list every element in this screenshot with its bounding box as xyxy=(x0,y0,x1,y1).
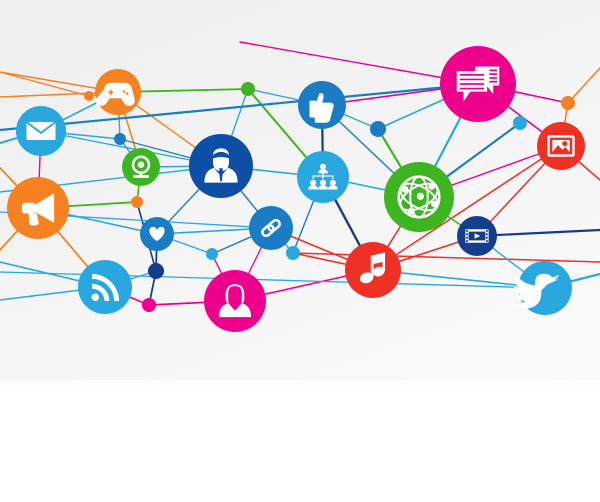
graph-edge xyxy=(0,72,89,96)
megaphone-node: Marketing xyxy=(7,177,69,239)
network-graph-svg: Gaming Email Video Chat Marketing Favori… xyxy=(0,0,600,380)
graph-edge xyxy=(568,68,600,103)
webcam-node: Video Chat xyxy=(122,148,160,186)
envelope-node: Email xyxy=(16,106,66,156)
photo-node: Photos xyxy=(537,122,585,170)
connector-dot xyxy=(286,246,300,260)
rss-node: Feed xyxy=(78,260,132,314)
video-film-node: Video xyxy=(457,216,497,256)
music-note-node: Music xyxy=(345,242,401,298)
node-circle xyxy=(78,260,132,314)
connector-dot xyxy=(241,82,255,96)
connector-dot xyxy=(148,263,164,279)
connector-dot xyxy=(206,248,218,260)
connector-dot xyxy=(370,121,386,137)
gamepad-node: Gaming xyxy=(95,69,141,115)
video-film-icon xyxy=(465,229,488,243)
connector-dot xyxy=(114,133,126,145)
thumbs-up-node: Like xyxy=(298,81,346,129)
network-illustration-area: Gaming Email Video Chat Marketing Favori… xyxy=(0,0,600,380)
envelope-icon xyxy=(27,121,56,140)
heart-node: Favorites xyxy=(140,217,174,251)
user-male-node: Profile xyxy=(189,134,253,198)
caption-area: Social Media|background EPS vector xyxy=(0,380,600,502)
chat-bubbles-node: Chat xyxy=(440,46,516,122)
social-media-background-graphic: Gaming Email Video Chat Marketing Favori… xyxy=(0,0,600,502)
node-circle xyxy=(249,206,293,250)
org-chart-node: Network xyxy=(297,151,349,203)
connector-dot xyxy=(561,96,575,110)
user-female-node: User xyxy=(204,270,266,332)
connector-dot xyxy=(142,298,156,312)
graph-edge xyxy=(293,253,600,262)
icon-nodes-layer: Gaming Email Video Chat Marketing Favori… xyxy=(7,46,585,332)
globe-network-node: Global xyxy=(384,162,454,232)
connector-dot xyxy=(131,196,143,208)
link-node: Link xyxy=(249,206,293,250)
connector-dot xyxy=(513,116,527,130)
connector-dot xyxy=(84,91,94,101)
